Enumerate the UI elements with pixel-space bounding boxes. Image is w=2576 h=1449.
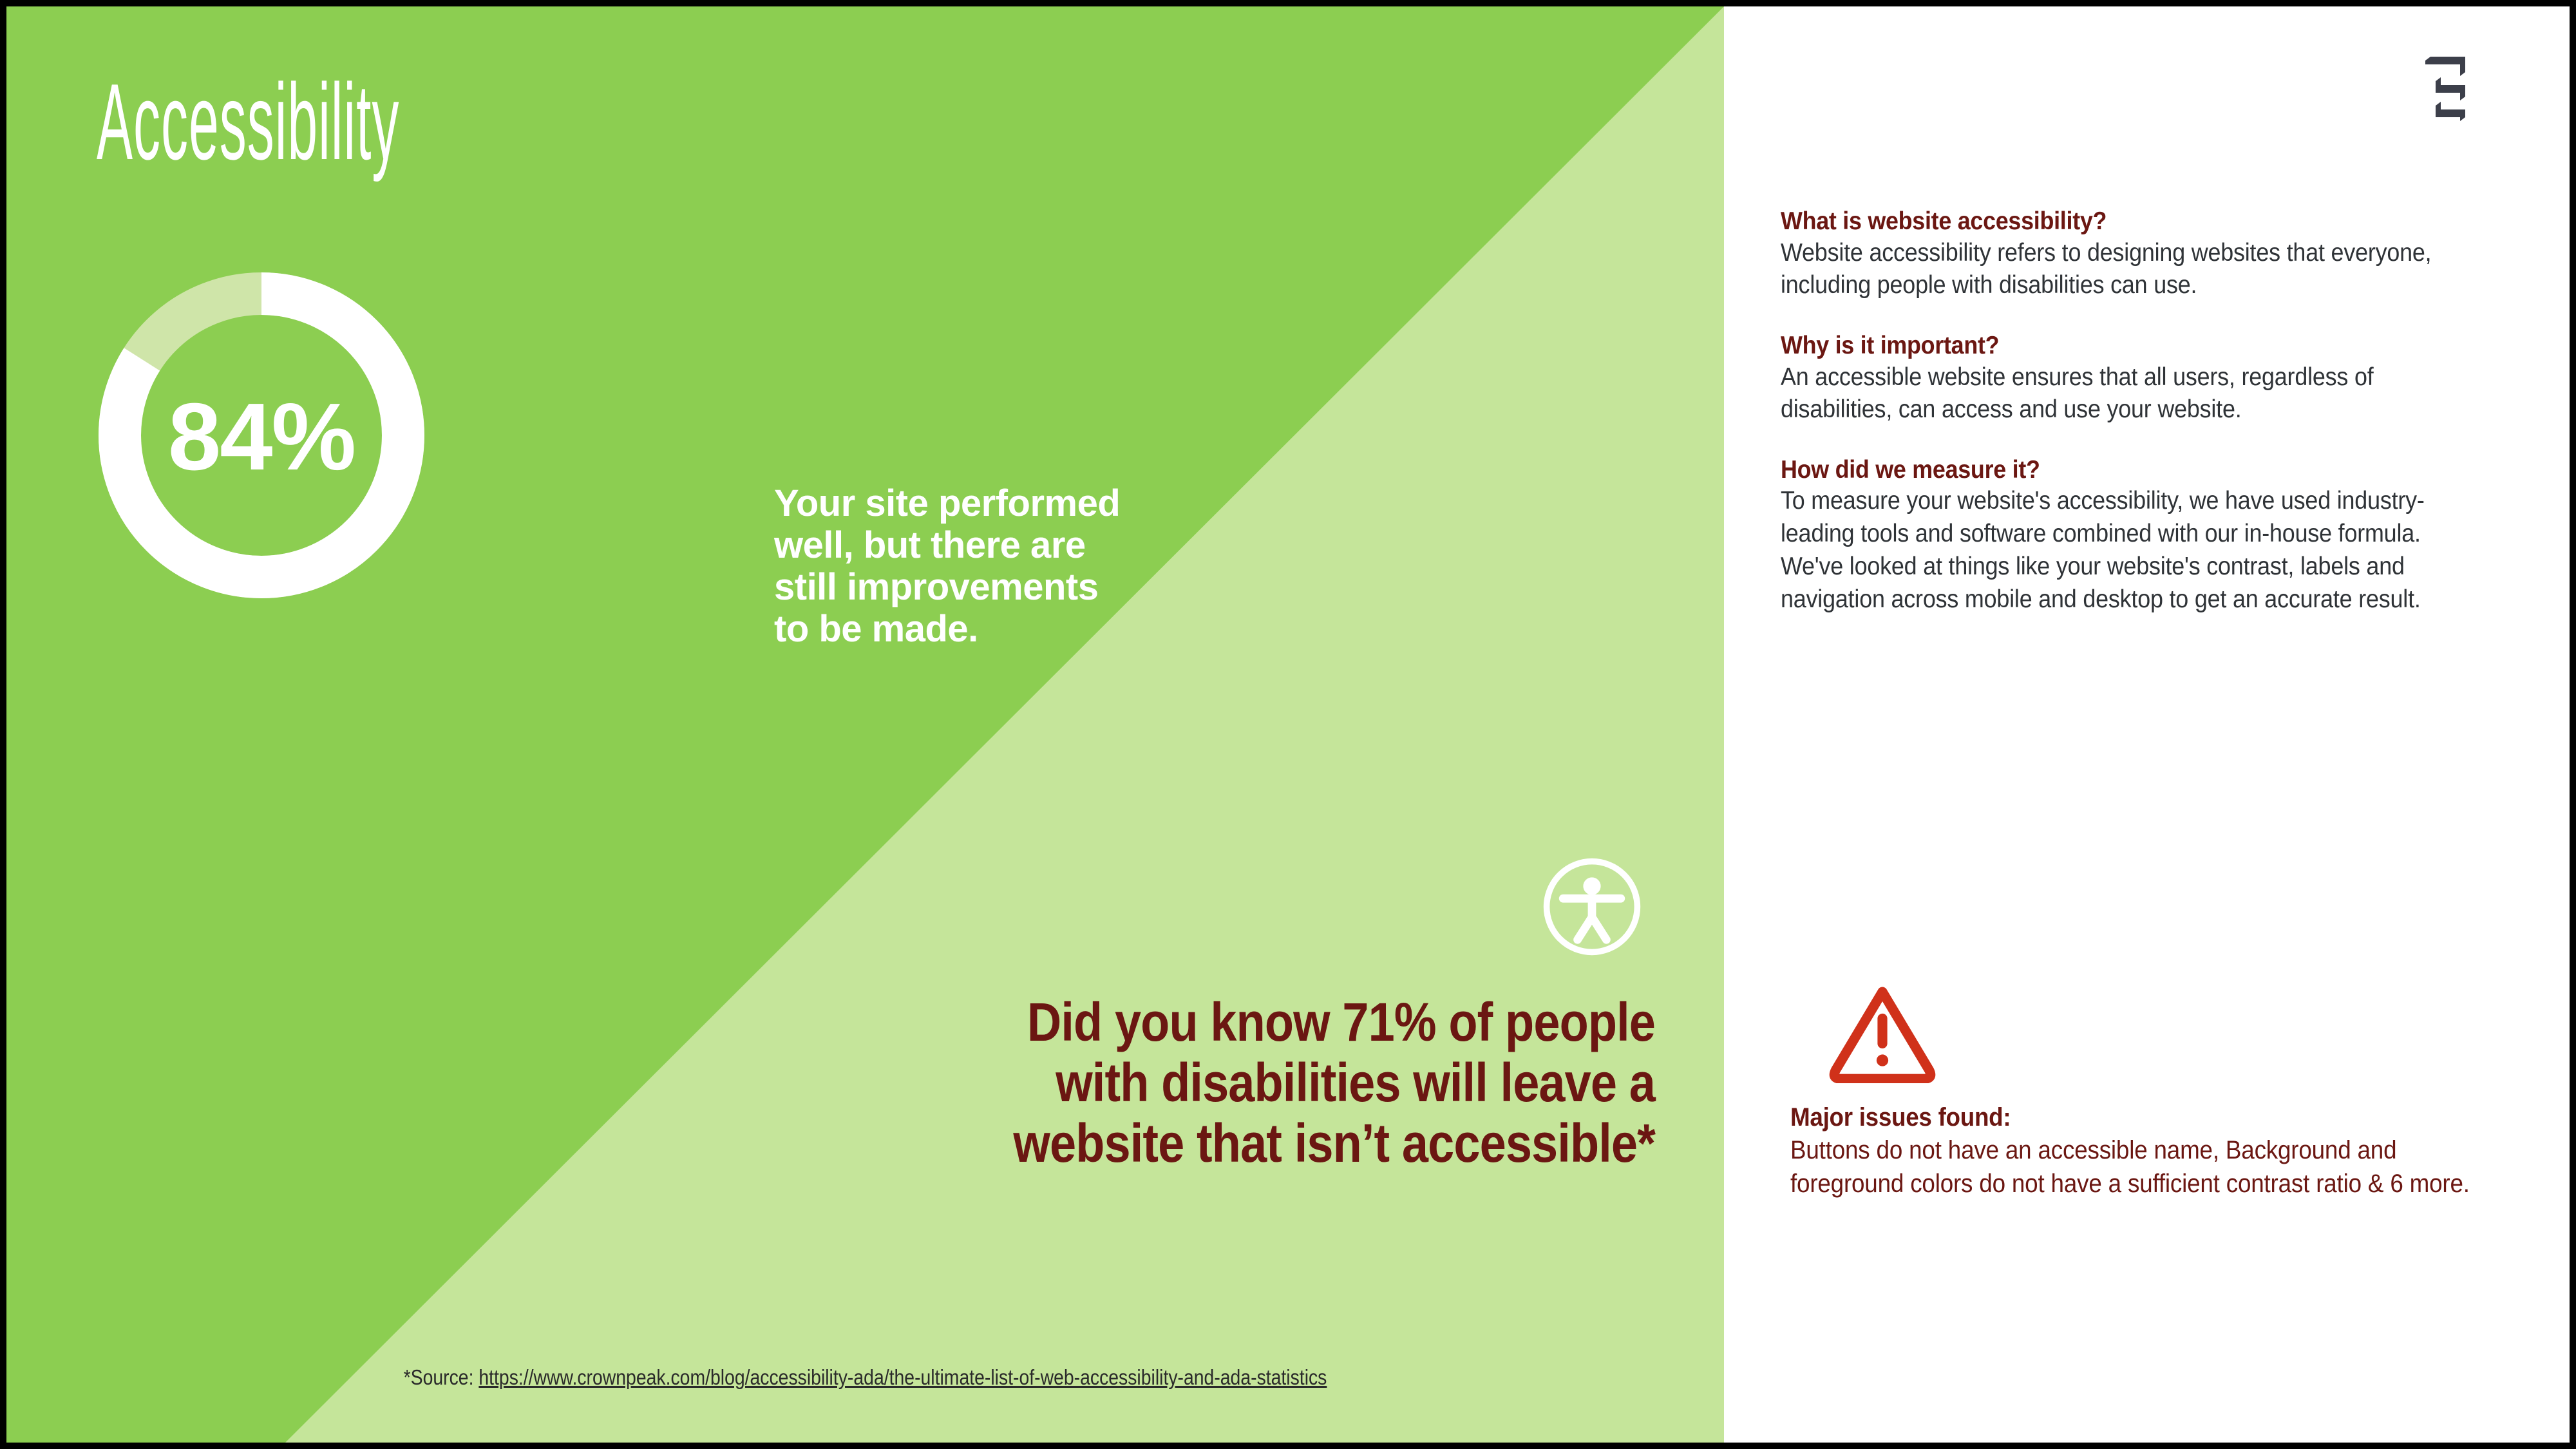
major-issues-title: Major issues found: — [1790, 1101, 2454, 1133]
faq-answer: Website accessibility refers to designin… — [1781, 237, 2486, 302]
brand-e-logo — [2424, 57, 2473, 121]
faq-item-what-is-accessibility: What is website accessibility? Website a… — [1781, 206, 2495, 302]
major-issues-block: Major issues found: Buttons do not have … — [1790, 1101, 2512, 1200]
source-prefix: *Source: — [404, 1365, 479, 1389]
major-issues-body: Buttons do not have an accessible name, … — [1790, 1133, 2490, 1200]
score-note: Your site performed well, but there are … — [774, 483, 1135, 650]
accessibility-score-donut-chart: 84% — [97, 270, 426, 600]
faq-question: How did we measure it? — [1781, 455, 2438, 486]
faq-question: What is website accessibility? — [1781, 206, 2438, 237]
faq-item-why-important: Why is it important? An accessible websi… — [1781, 330, 2495, 426]
diagonal-light-green-wedge — [6, 6, 1724, 1443]
green-panel: Accessibility 84% Your site performed we… — [6, 6, 1724, 1443]
faq-list: What is website accessibility? Website a… — [1781, 206, 2495, 644]
page-title: Accessibility — [97, 68, 399, 176]
source-footnote: *Source: https://www.crownpeak.com/blog/… — [127, 1365, 1604, 1390]
info-panel: What is website accessibility? Website a… — [1724, 6, 2570, 1443]
stat-callout: Did you know 71% of people with disabili… — [1009, 992, 1655, 1173]
slide-canvas: Accessibility 84% Your site performed we… — [6, 6, 2570, 1443]
faq-item-how-measured: How did we measure it? To measure your w… — [1781, 455, 2495, 616]
faq-answer: An accessible website ensures that all u… — [1781, 361, 2486, 426]
faq-question: Why is it important? — [1781, 330, 2438, 361]
donut-center-value: 84% — [97, 270, 426, 600]
source-link[interactable]: https://www.crownpeak.com/blog/accessibi… — [478, 1365, 1327, 1389]
faq-answer: To measure your website's accessibility,… — [1781, 485, 2486, 616]
universal-access-icon — [1540, 855, 1643, 958]
warning-triangle-icon — [1827, 985, 1938, 1083]
